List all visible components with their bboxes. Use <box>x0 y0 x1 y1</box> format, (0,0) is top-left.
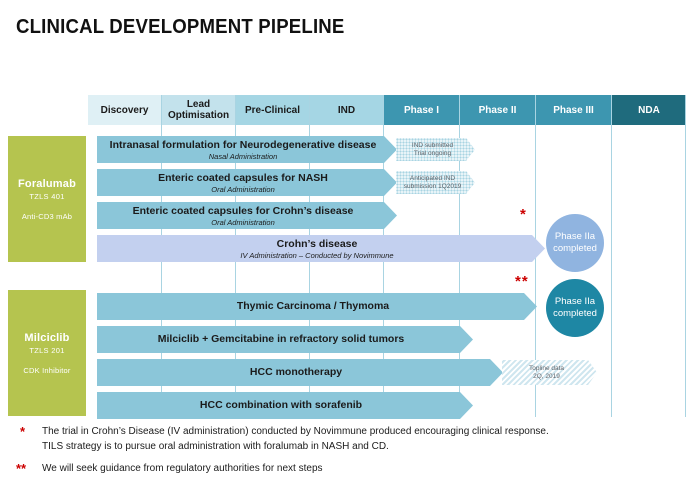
bar-subtitle: Oral Administration <box>211 218 283 227</box>
pipeline-bar-crohns-iv[interactable]: Crohn’s disease IV Administration – Cond… <box>97 235 545 262</box>
pipeline-bar-intranasal-neurodegenerative[interactable]: Intranasal formulation for Neurodegenera… <box>97 136 397 163</box>
ghost-line-2: 2Q, 2019 <box>533 373 566 381</box>
footnote-marker-double: ** <box>515 277 529 287</box>
footnote-2-marker: ** <box>16 462 26 476</box>
ghost-line-1: IND submitted <box>412 142 459 150</box>
program-code: TZLS 201 <box>29 346 64 355</box>
pipeline-bar-hcc-monotherapy[interactable]: HCC monotherapy <box>97 359 503 386</box>
program-class: Anti-CD3 mAb <box>22 212 72 221</box>
bar-title: Milciclib + Gemcitabine in refractory so… <box>158 333 413 345</box>
bar-title: Enteric coated capsules for NASH <box>158 172 336 184</box>
milestone-circle-milciclib-phase-iia[interactable]: Phase IIa completed <box>546 279 604 337</box>
bar-title: Enteric coated capsules for Crohn’s dise… <box>133 205 362 217</box>
milestone-line-1: Phase IIa <box>553 296 597 308</box>
footnotes: * The trial in Crohn’s Disease (IV admin… <box>16 424 676 483</box>
bar-title: Thymic Carcinoma / Thymoma <box>237 300 397 312</box>
pipeline-bar-milciclib-gemcitabine[interactable]: Milciclib + Gemcitabine in refractory so… <box>97 326 473 353</box>
pipeline-bar-enteric-nash[interactable]: Enteric coated capsules for NASH Oral Ad… <box>97 169 397 196</box>
footnote-1: * The trial in Crohn’s Disease (IV admin… <box>16 424 676 454</box>
bar-title: Intranasal formulation for Neurodegenera… <box>110 139 385 151</box>
bar-subtitle: Oral Administration <box>211 185 283 194</box>
milestone-line-2: completed <box>553 308 597 320</box>
ghost-line-2: Trial ongoing <box>414 150 457 158</box>
program-class: CDK Inhibitor <box>23 366 70 375</box>
bar-title: Crohn’s disease <box>277 238 366 250</box>
bar-title: HCC combination with sorafenib <box>200 399 370 411</box>
footnote-1-marker: * <box>20 425 25 439</box>
footnote-1-line-1: The trial in Crohn’s Disease (IV adminis… <box>42 426 549 437</box>
column-divider-7 <box>611 95 612 417</box>
ghost-arrow-topline-data: Topline data 2Q, 2019 <box>502 360 597 385</box>
bar-subtitle: IV Administration – Conducted by Novimmu… <box>240 251 401 260</box>
footnote-2-line-1: We will seek guidance from regulatory au… <box>42 463 323 474</box>
pipeline-chart: Intranasal formulation for Neurodegenera… <box>88 95 686 417</box>
program-name: Foralumab <box>18 178 76 190</box>
milestone-circle-foralumab-phase-iia[interactable]: Phase IIa completed <box>546 214 604 272</box>
pipeline-bar-hcc-sorafenib[interactable]: HCC combination with sorafenib <box>97 392 473 419</box>
pipeline-bar-enteric-crohns[interactable]: Enteric coated capsules for Crohn’s dise… <box>97 202 397 229</box>
program-name: Milciclib <box>24 332 69 344</box>
ghost-line-2: submission 1Q2019 <box>404 183 467 191</box>
ghost-line-1: Anticipated IND <box>410 175 461 183</box>
program-code: TZLS 401 <box>29 192 64 201</box>
pipeline-bar-thymic-carcinoma[interactable]: Thymic Carcinoma / Thymoma <box>97 293 537 320</box>
column-divider-8 <box>685 95 686 417</box>
page-title: CLINICAL DEVELOPMENT PIPELINE <box>16 16 345 39</box>
ghost-line-1: Topline data <box>529 365 570 373</box>
footnote-2: ** We will seek guidance from regulatory… <box>16 461 676 476</box>
program-block-foralumab[interactable]: Foralumab TZLS 401 Anti-CD3 mAb <box>8 136 86 262</box>
milestone-line-1: Phase IIa <box>553 231 597 243</box>
milestone-line-2: completed <box>553 243 597 255</box>
ghost-arrow-ind-submitted: IND submitted Trial ongoing <box>396 138 475 161</box>
bar-title: HCC monotherapy <box>250 366 350 378</box>
bar-subtitle: Nasal Administration <box>209 152 286 161</box>
footnote-marker-single: * <box>520 210 527 220</box>
ghost-arrow-anticipated-ind: Anticipated IND submission 1Q2019 <box>396 171 475 194</box>
footnote-1-line-2: TILS strategy is to pursue oral administ… <box>42 439 676 454</box>
program-block-milciclib[interactable]: Milciclib TZLS 201 CDK Inhibitor <box>8 290 86 416</box>
